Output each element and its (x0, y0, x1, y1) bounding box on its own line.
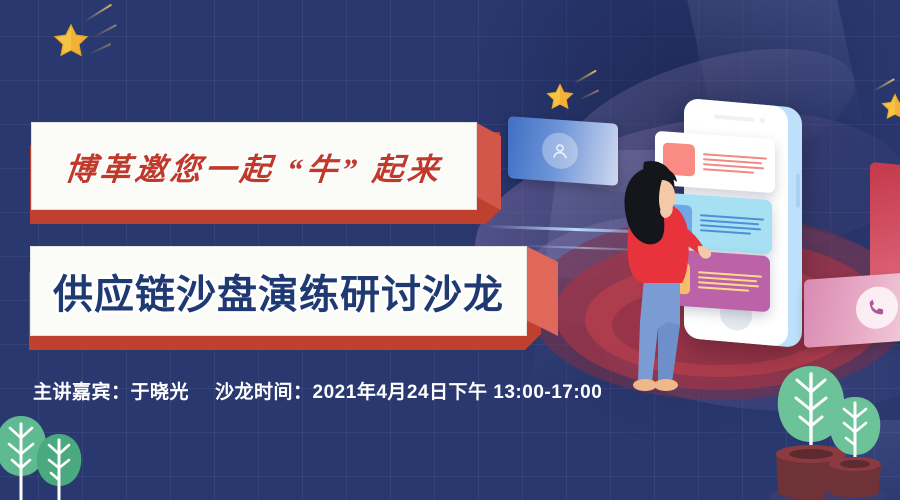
banner-top: 博革邀您一起 “牛” 起来 (20, 118, 512, 228)
tree-left-small (28, 428, 90, 500)
banner-main-text: 供应链沙盘演练研讨沙龙 (31, 262, 526, 320)
speaker-name: 于晓光 (131, 382, 190, 403)
phone-call-icon (856, 285, 898, 330)
poster-canvas: 博革邀您一起 “牛” 起来 供应链沙盘演练研讨沙龙 主讲嘉宾：于晓光沙龙时间：2… (0, 0, 900, 500)
phone-camera-icon (760, 117, 765, 122)
red-accent-card (870, 162, 900, 289)
phone-call-card (804, 272, 900, 348)
user-avatar-icon (542, 132, 578, 171)
event-details: 主讲嘉宾：于晓光沙龙时间：2021年4月24日下午 13:00-17:00 (33, 377, 602, 404)
banner-top-side (475, 122, 501, 210)
star-icon (880, 92, 900, 122)
phone-side-button (796, 174, 800, 208)
star-icon (545, 82, 575, 112)
banner-top-face: 博革邀您一起 “牛” 起来 (31, 122, 477, 210)
banner-main-face: 供应链沙盘演练研讨沙龙 (30, 246, 527, 336)
speaker-label: 主讲嘉宾： (33, 382, 131, 403)
person-illustration (600, 150, 720, 405)
banner-main: 供应链沙盘演练研讨沙龙 (18, 240, 578, 352)
tree-right-small (812, 392, 898, 500)
time-value: 2021年4月24日下午 13:00-17:00 (313, 382, 603, 403)
time-label: 沙龙时间： (215, 382, 313, 403)
banner-top-text: 博革邀您一起 “牛” 起来 (30, 144, 479, 189)
star-icon (52, 22, 90, 60)
